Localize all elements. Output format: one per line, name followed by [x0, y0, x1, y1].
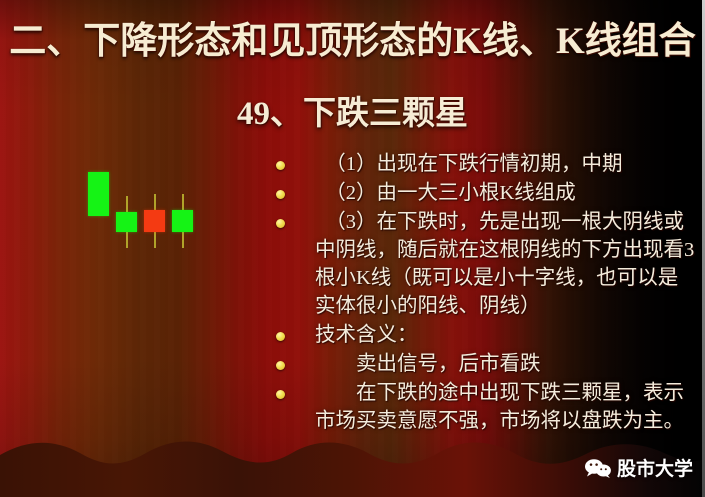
slide-canvas: 二、下降形态和见顶形态的K线、K线组合 49、下跌三颗星 （1）出现在下跌行情初… [0, 0, 705, 497]
wechat-icon [584, 458, 612, 478]
bullet-dot-icon [276, 219, 285, 228]
bullet-item-5: 卖出信号，后市看跌 [272, 350, 697, 378]
candle-1 [88, 150, 109, 270]
bullet-item-4: 技术含义： [272, 321, 697, 349]
candle-body [88, 172, 109, 216]
candle-4 [172, 150, 193, 270]
watermark: 股市大学 [584, 454, 693, 481]
watermark-label: 股市大学 [617, 454, 693, 481]
bullet-item-1: （1）出现在下跌行情初期，中期 [272, 150, 697, 178]
bullet-text: 技术含义： [315, 321, 697, 349]
candle-body [172, 210, 193, 232]
bullet-dot-icon [276, 190, 285, 199]
candle-2 [116, 150, 137, 270]
bullet-item-6: 在下跌的途中出现下跌三颗星，表示市场买卖意愿不强，市场将以盘跌为主。 [272, 379, 697, 435]
bullet-text: 卖出信号，后市看跌 [315, 350, 697, 378]
bullet-list: （1）出现在下跌行情初期，中期 （2）由一大三小根K线组成 （3）在下跌时，先是… [272, 150, 697, 436]
bullet-text: （3）在下跌时，先是出现一根大阴线或中阴线，随后就在这根阴线的下方出现看3根小K… [315, 208, 697, 320]
page-subtitle: 49、下跌三颗星 [0, 96, 705, 132]
bullet-dot-icon [276, 390, 285, 399]
candle-body [116, 212, 137, 232]
bullet-item-3: （3）在下跌时，先是出现一根大阴线或中阴线，随后就在这根阴线的下方出现看3根小K… [272, 208, 697, 320]
bullet-dot-icon [276, 361, 285, 370]
bullet-text: （2）由一大三小根K线组成 [315, 179, 697, 207]
page-title: 二、下降形态和见顶形态的K线、K线组合 [0, 22, 705, 62]
candlestick-chart [60, 150, 230, 270]
bullet-item-2: （2）由一大三小根K线组成 [272, 179, 697, 207]
bullet-text: 在下跌的途中出现下跌三颗星，表示市场买卖意愿不强，市场将以盘跌为主。 [315, 379, 697, 435]
bullet-text: （1）出现在下跌行情初期，中期 [315, 150, 697, 178]
bullet-dot-icon [276, 332, 285, 341]
candle-body [144, 210, 165, 232]
candle-3 [144, 150, 165, 270]
bullet-dot-icon [276, 161, 285, 170]
